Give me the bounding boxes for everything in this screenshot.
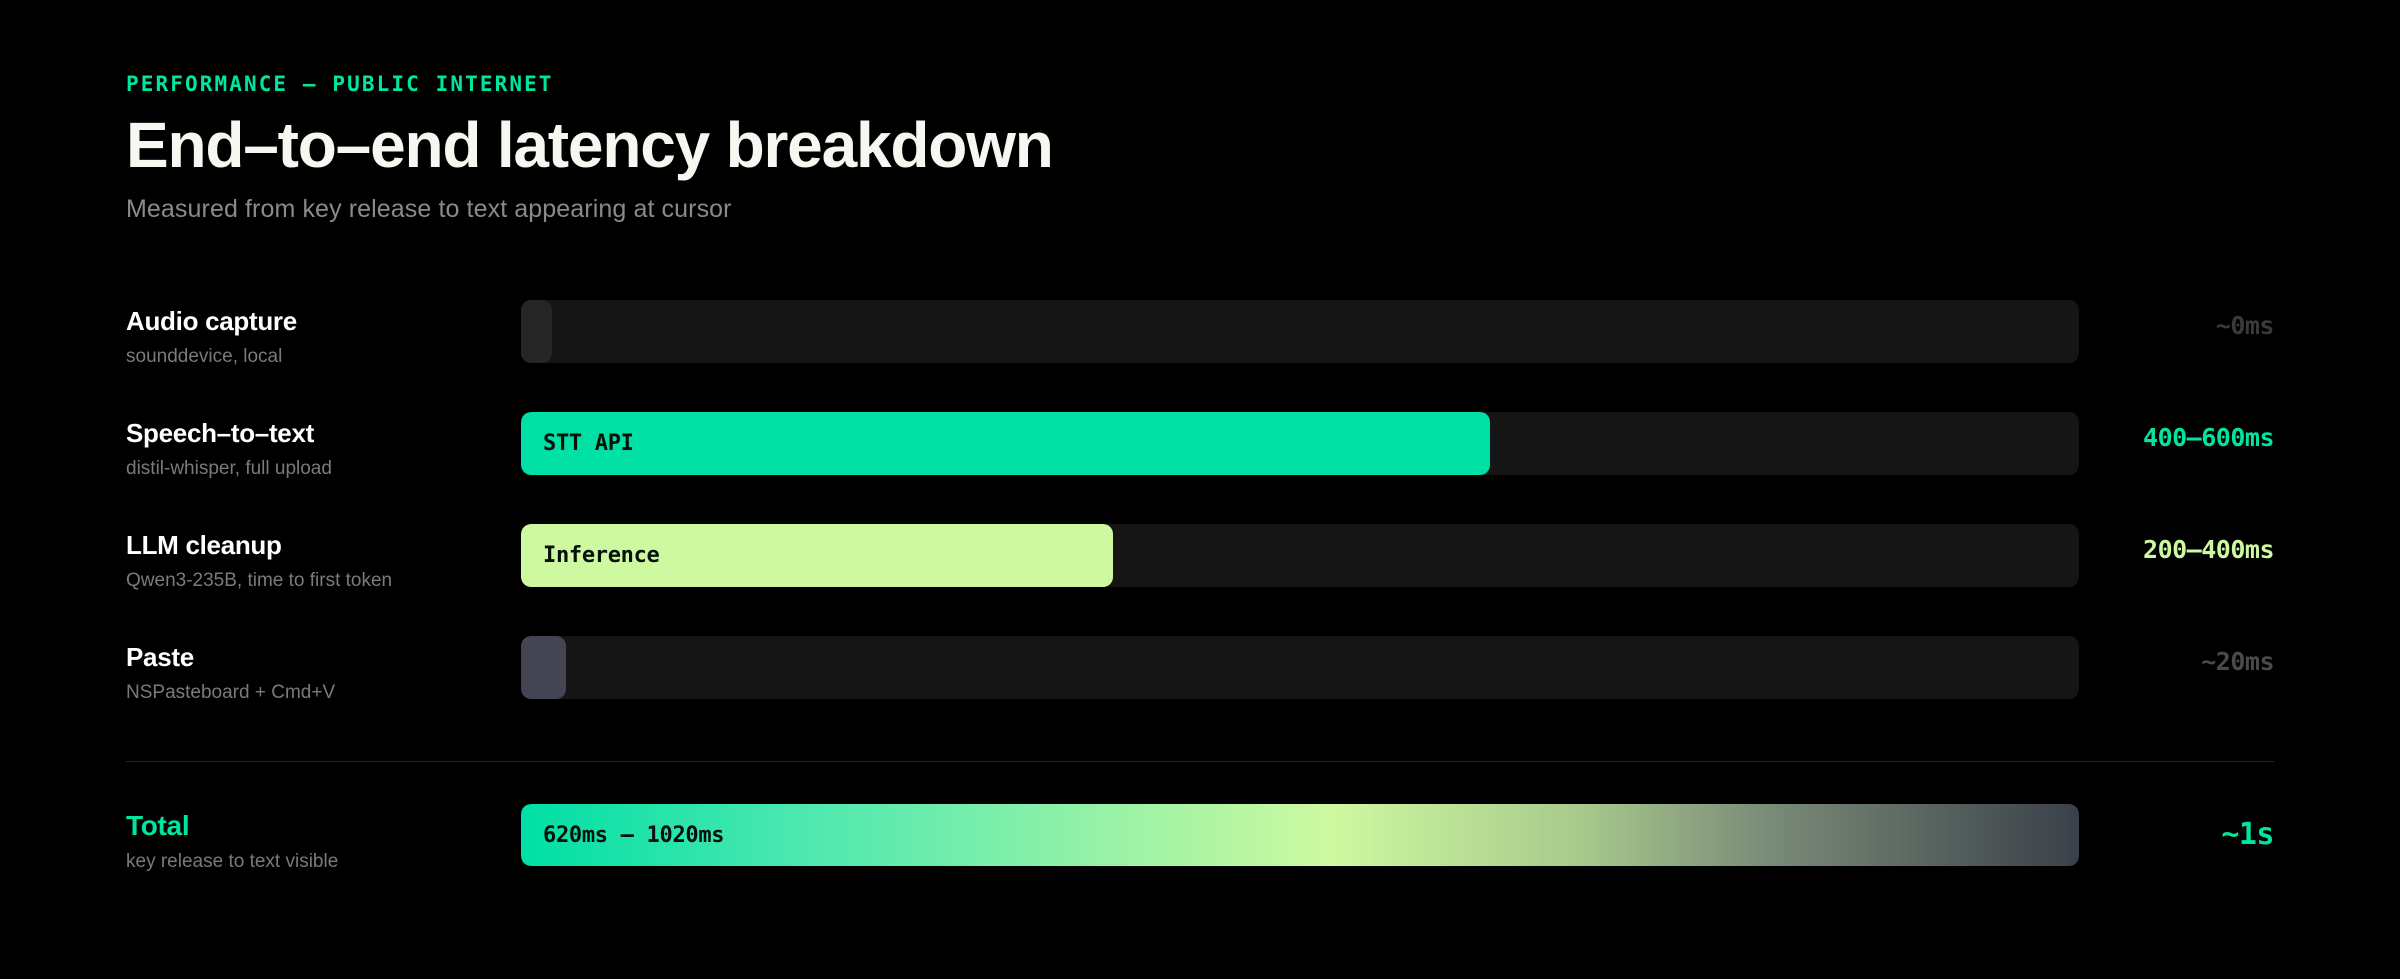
row-track-wrap (521, 632, 2079, 699)
total-name: Total (126, 810, 521, 842)
total-value: ~1s (2079, 800, 2274, 854)
row-track: Inference (521, 524, 2079, 587)
row-value: ~20ms (2079, 632, 2274, 678)
row-stage-detail: NSPasteboard + Cmd+V (126, 682, 521, 704)
row-track: STT API (521, 412, 2079, 475)
row-stage-name: Audio capture (126, 306, 521, 337)
row-bar: Inference (521, 524, 1113, 587)
row-track-wrap (521, 296, 2079, 363)
row-track (521, 300, 2079, 363)
total-track-wrap: 620ms — 1020ms (521, 800, 2079, 866)
row-label-group: LLM cleanup Qwen3-235B, time to first to… (126, 520, 521, 592)
row-stage-detail: distil-whisper, full upload (126, 458, 521, 480)
row-bar-label: STT API (521, 431, 634, 456)
row-track (521, 636, 2079, 699)
page-title: End–to–end latency breakdown (126, 112, 1053, 179)
page-subtitle: Measured from key release to text appear… (126, 195, 1053, 224)
row-stage-detail: Qwen3-235B, time to first token (126, 570, 521, 592)
row-bar-label: Inference (521, 543, 660, 568)
row-bar (521, 636, 566, 699)
latency-row: Speech–to–text distil-whisper, full uplo… (126, 408, 2274, 520)
latency-row: Audio capture sounddevice, local ~0ms (126, 296, 2274, 408)
row-label-group: Paste NSPasteboard + Cmd+V (126, 632, 521, 704)
row-stage-name: Paste (126, 642, 521, 673)
total-track: 620ms — 1020ms (521, 804, 2079, 866)
latency-rows: Audio capture sounddevice, local ~0ms Sp… (126, 296, 2274, 744)
row-track-wrap: Inference (521, 520, 2079, 587)
latency-row: Paste NSPasteboard + Cmd+V ~20ms (126, 632, 2274, 744)
header: PERFORMANCE — PUBLIC INTERNET End–to–end… (126, 72, 1053, 224)
row-stage-detail: sounddevice, local (126, 346, 521, 368)
section-divider (126, 761, 2274, 762)
row-stage-name: Speech–to–text (126, 418, 521, 449)
latency-breakdown-page: PERFORMANCE — PUBLIC INTERNET End–to–end… (0, 0, 2400, 979)
total-label-group: Total key release to text visible (126, 800, 521, 873)
total-row: Total key release to text visible 620ms … (126, 800, 2274, 873)
latency-row: LLM cleanup Qwen3-235B, time to first to… (126, 520, 2274, 632)
total-bar: 620ms — 1020ms (521, 804, 2079, 866)
total-bar-label: 620ms — 1020ms (521, 823, 724, 848)
row-bar (521, 300, 552, 363)
row-value: 400—600ms (2079, 408, 2274, 454)
row-value: ~0ms (2079, 296, 2274, 342)
row-value: 200—400ms (2079, 520, 2274, 566)
row-label-group: Speech–to–text distil-whisper, full uplo… (126, 408, 521, 480)
eyebrow-label: PERFORMANCE — PUBLIC INTERNET (126, 72, 1053, 96)
total-detail: key release to text visible (126, 851, 521, 873)
row-stage-name: LLM cleanup (126, 530, 521, 561)
row-label-group: Audio capture sounddevice, local (126, 296, 521, 368)
row-bar: STT API (521, 412, 1490, 475)
row-track-wrap: STT API (521, 408, 2079, 475)
